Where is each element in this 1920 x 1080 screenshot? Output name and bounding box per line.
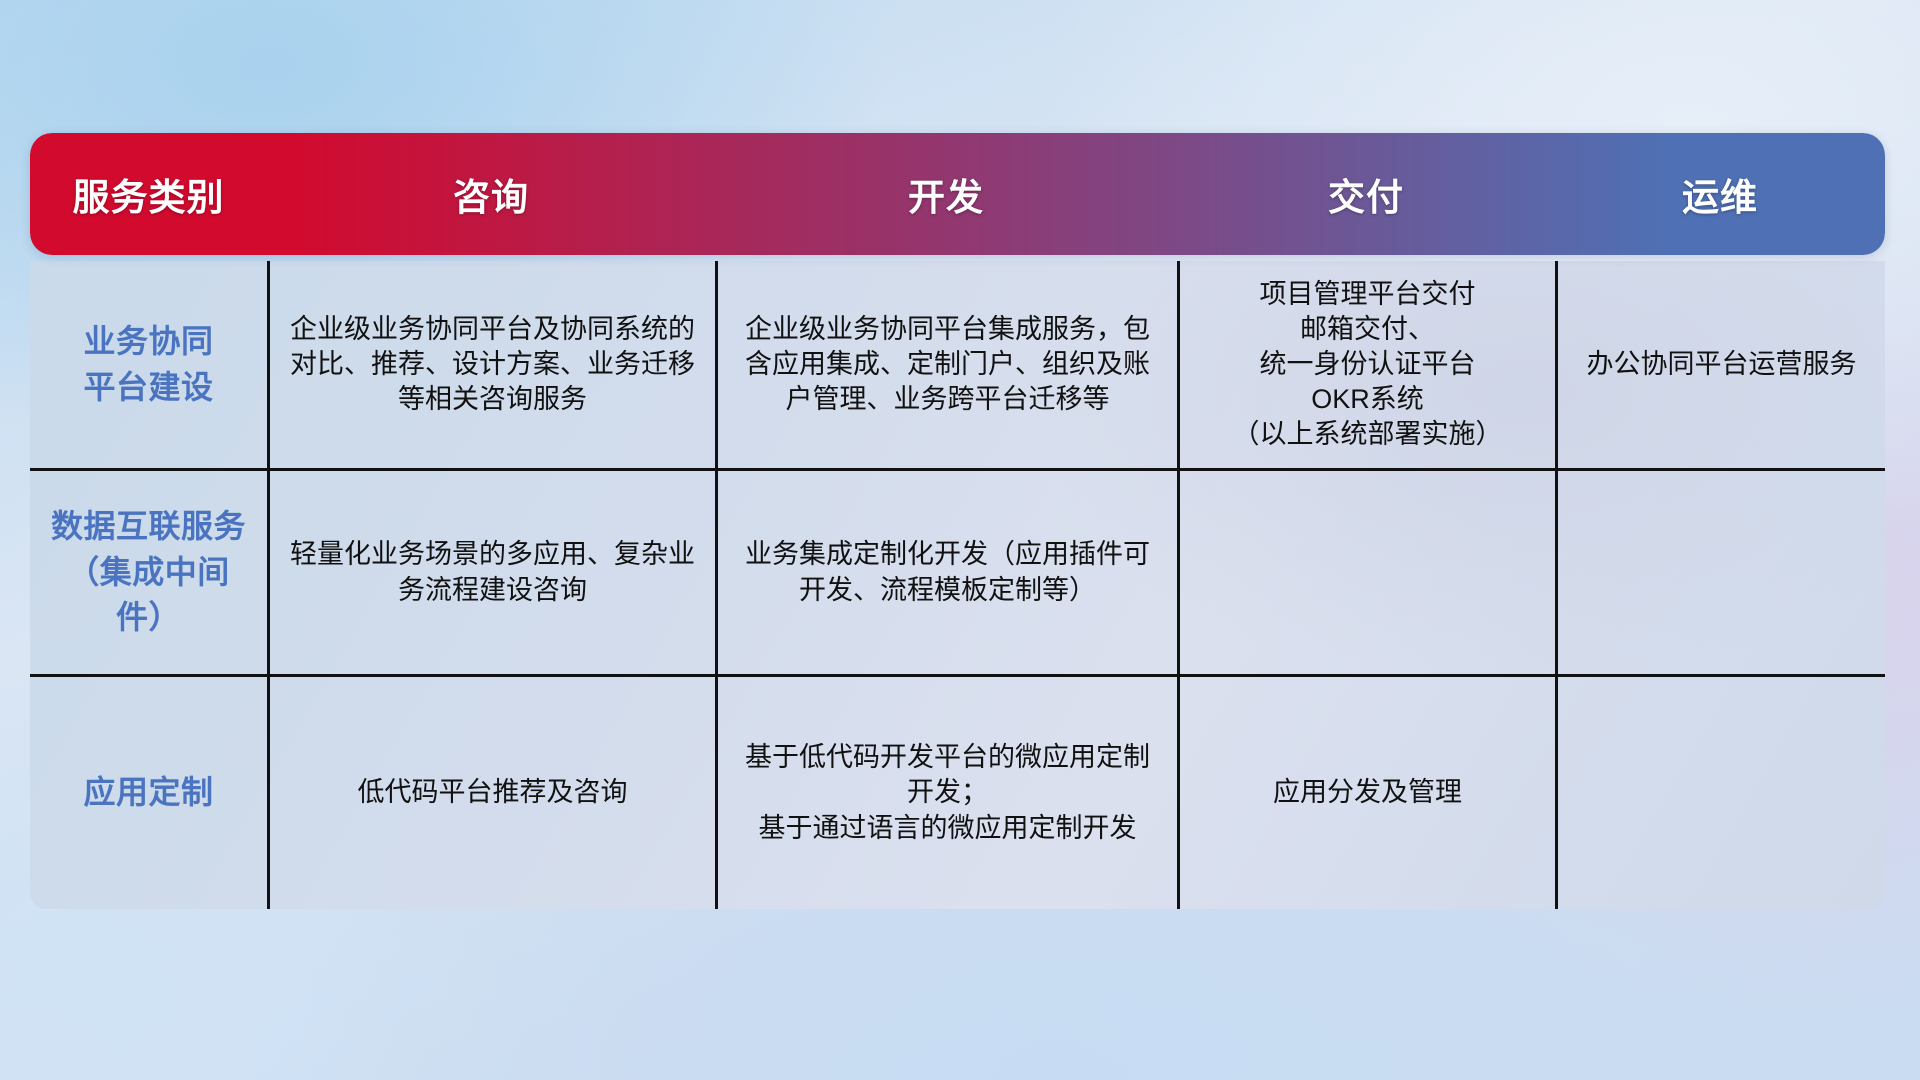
cell-consulting: 企业级业务协同平台及协同系统的对比、推荐、设计方案、业务迁移等相关咨询服务 — [267, 261, 715, 468]
table-row: 业务协同 平台建设 企业级业务协同平台及协同系统的对比、推荐、设计方案、业务迁移… — [30, 261, 1885, 468]
column-header-consulting: 咨询 — [267, 167, 715, 221]
table-body: 业务协同 平台建设 企业级业务协同平台及协同系统的对比、推荐、设计方案、业务迁移… — [30, 261, 1885, 909]
column-header-development: 开发 — [715, 167, 1177, 221]
column-header-operations: 运维 — [1555, 167, 1885, 221]
cell-consulting: 轻量化业务场景的多应用、复杂业务流程建设咨询 — [267, 471, 715, 674]
row-category-label: 应用定制 — [30, 677, 267, 909]
column-header-service-category: 服务类别 — [30, 167, 267, 221]
cell-operations: 办公协同平台运营服务 — [1555, 261, 1885, 468]
cell-development: 业务集成定制化开发（应用插件可开发、流程模板定制等） — [715, 471, 1177, 674]
cell-development: 基于低代码开发平台的微应用定制开发； 基于通过语言的微应用定制开发 — [715, 677, 1177, 909]
cell-operations — [1555, 677, 1885, 909]
cell-delivery — [1177, 471, 1555, 674]
service-matrix-table: 服务类别 咨询 开发 交付 运维 业务协同 平台建设 企业级业务协同平台及协同系… — [30, 133, 1885, 909]
cell-delivery: 应用分发及管理 — [1177, 677, 1555, 909]
row-category-label: 数据互联服务 （集成中间件） — [30, 471, 267, 674]
row-category-label: 业务协同 平台建设 — [30, 261, 267, 468]
table-row: 数据互联服务 （集成中间件） 轻量化业务场景的多应用、复杂业务流程建设咨询 业务… — [30, 468, 1885, 674]
table-header-row: 服务类别 咨询 开发 交付 运维 — [30, 133, 1885, 255]
cell-operations — [1555, 471, 1885, 674]
cell-consulting: 低代码平台推荐及咨询 — [267, 677, 715, 909]
cell-delivery: 项目管理平台交付 邮箱交付、 统一身份认证平台 OKR系统 （以上系统部署实施） — [1177, 261, 1555, 468]
cell-development: 企业级业务协同平台集成服务，包含应用集成、定制门户、组织及账户管理、业务跨平台迁… — [715, 261, 1177, 468]
table-row: 应用定制 低代码平台推荐及咨询 基于低代码开发平台的微应用定制开发； 基于通过语… — [30, 674, 1885, 909]
column-header-delivery: 交付 — [1177, 167, 1555, 221]
